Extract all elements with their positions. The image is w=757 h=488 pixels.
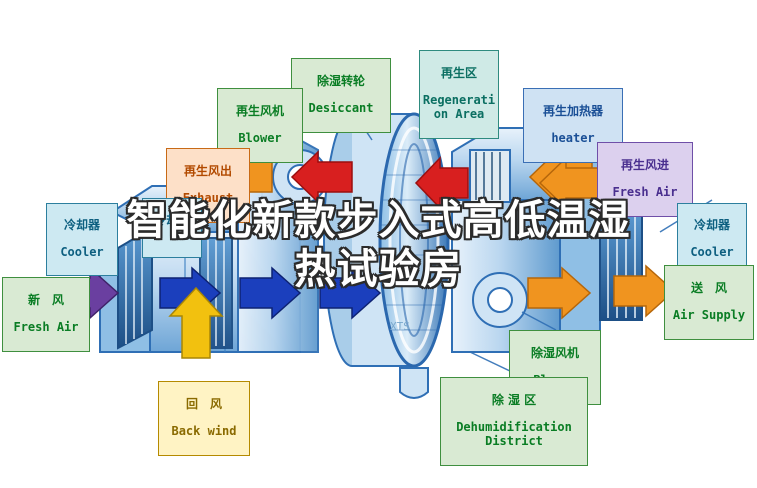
label-cooler-right-cn: 冷却器 bbox=[680, 219, 744, 232]
label-dehum-blower-cn: 除湿风机 bbox=[512, 347, 598, 360]
label-back-wind-en: Back wind bbox=[161, 425, 247, 438]
label-cooler-right-en: Cooler bbox=[680, 246, 744, 259]
label-dehumidification-district: 除 湿 区 Dehumidification District bbox=[440, 377, 588, 466]
label-air-supply-en: Air Supply bbox=[667, 309, 751, 322]
label-fresh-air-in-en: Fresh Air bbox=[600, 186, 690, 199]
label-air-supply: 送 风 Air Supply bbox=[664, 265, 754, 340]
label-fresh-air-cn: 新 风 bbox=[5, 294, 87, 307]
label-regen-heater-cn: 再生加热器 bbox=[526, 105, 620, 118]
diagram-canvas: XTS 除湿转轮 Desiccant 再生区 Regenerati on Are… bbox=[0, 0, 757, 488]
label-cooler-left-cn: 冷却器 bbox=[49, 219, 115, 232]
watermark-text: XTS bbox=[390, 320, 410, 333]
label-regen-blower-en: Blower bbox=[220, 132, 300, 145]
dehum-blower-fan bbox=[473, 273, 527, 327]
label-dehumidification-district-en: Dehumidification District bbox=[443, 421, 585, 448]
label-regen-blower-cn: 再生风机 bbox=[220, 105, 300, 118]
label-cooler-mid-cn: 冷却器 bbox=[145, 214, 199, 227]
label-cooler-left: 冷却器 Cooler bbox=[46, 203, 118, 276]
label-desiccant-cn: 除湿转轮 bbox=[294, 75, 388, 88]
label-exhaust-cn: 再生风出 bbox=[169, 165, 247, 178]
label-fresh-air-en: Fresh Air bbox=[5, 321, 87, 334]
label-fresh-air: 新 风 Fresh Air bbox=[2, 277, 90, 352]
label-cooler-mid: 冷却器 bbox=[142, 198, 202, 258]
label-desiccant: 除湿转轮 Desiccant bbox=[291, 58, 391, 133]
label-back-wind: 回 风 Back wind bbox=[158, 381, 250, 456]
label-cooler-left-en: Cooler bbox=[49, 246, 115, 259]
label-desiccant-en: Desiccant bbox=[294, 102, 388, 115]
label-regeneration-area-cn: 再生区 bbox=[422, 67, 496, 80]
label-regeneration-area: 再生区 Regenerati on Area bbox=[419, 50, 499, 139]
label-dehumidification-district-cn: 除 湿 区 bbox=[443, 394, 585, 407]
label-regeneration-area-en: Regenerati on Area bbox=[422, 94, 496, 121]
regen-heater-coil bbox=[470, 150, 510, 202]
label-fresh-air-in-cn: 再生风进 bbox=[600, 159, 690, 172]
label-air-supply-cn: 送 风 bbox=[667, 282, 751, 295]
label-back-wind-cn: 回 风 bbox=[161, 398, 247, 411]
